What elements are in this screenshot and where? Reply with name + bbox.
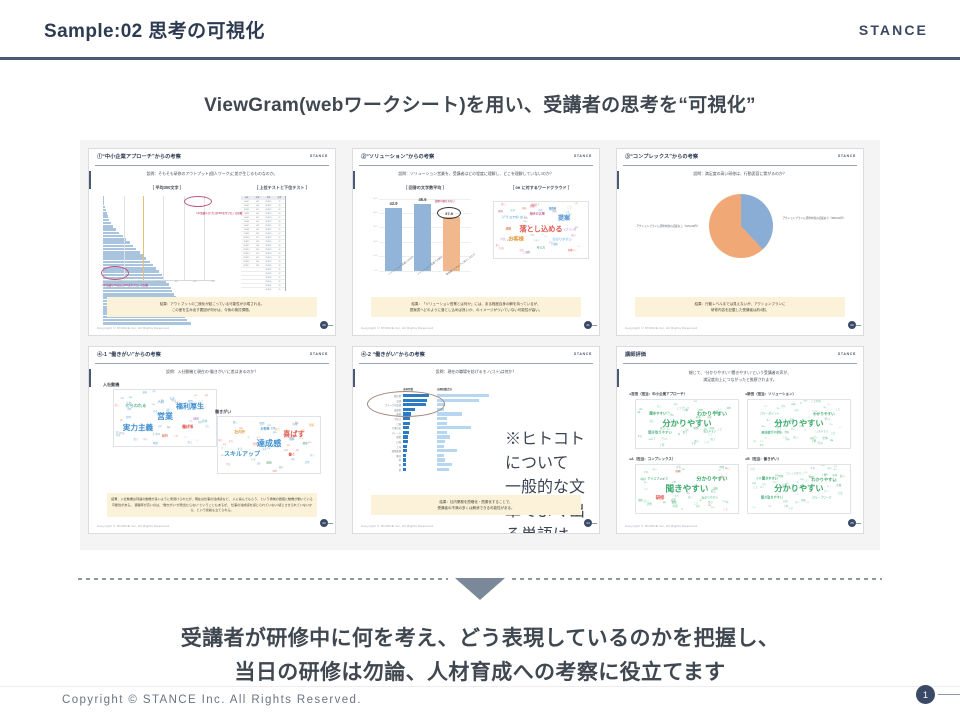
wordcloud-word: 喜ばす <box>283 431 305 438</box>
wordcloud-word: 分かりやすい <box>774 484 823 492</box>
wordcloud-word: わかりやすい <box>811 478 836 482</box>
row-label: 上司 <box>371 445 401 449</box>
slide1-highlight-lower <box>101 266 129 280</box>
wordcloud-word: 資料 <box>696 507 700 509</box>
wordcloud-word: 全体 <box>794 410 799 412</box>
slide4-conclusion-note: 結果：入社動機は待遇の動機が多いように見受けられたが、現在は仕事の達成感など、 … <box>107 493 317 517</box>
wordcloud-word: 全体 <box>202 421 207 424</box>
wordcloud-word: 話し <box>279 467 284 470</box>
slide1-annotation-upper: 「中活通りの/ブロが300文字プロ」の記載 <box>195 211 242 215</box>
slide6-header: 講師評価 STANCE <box>617 347 863 364</box>
dotted-divider-right <box>512 578 882 580</box>
slide2-title: ②“ソリューション”からの考察 <box>361 153 434 160</box>
row-label: 残業 <box>371 435 401 439</box>
wordcloud-word: こと <box>836 409 841 411</box>
slide5-title: ④-2 “働きがい”からの考察 <box>361 351 425 358</box>
wordcloud-word: する <box>152 434 157 437</box>
wordcloud-word: 働ける <box>182 426 193 430</box>
wordcloud-word: 声 <box>221 449 223 451</box>
bar-row <box>103 199 104 202</box>
wordcloud-word: 思う <box>760 488 764 490</box>
wordcloud-word: 多い <box>652 469 657 471</box>
wordcloud-word: する <box>751 507 756 510</box>
wordcloud-word: 説明 <box>727 408 731 410</box>
slide2-section-2: ［ он に対するワードクラウド ］ <box>491 185 591 191</box>
bar-row <box>103 222 111 225</box>
wordcloud-word: 良い <box>571 235 576 237</box>
bar-series-1 <box>403 426 409 429</box>
slide3-pie-chart <box>709 194 773 258</box>
axis-tick: 300 <box>156 281 160 283</box>
bar-series-2 <box>437 458 445 461</box>
slide6-page-number: 25 <box>848 519 856 527</box>
wordcloud-word: 思う <box>675 496 679 498</box>
wordcloud-word: 丁寧 <box>267 449 271 451</box>
slide6-wordcloud-3: ためすること思う良い多い話し内容全体時間理解資料説明声丁寧早い言葉ためすること思… <box>635 464 739 514</box>
wordcloud-word: 言葉 <box>152 392 155 394</box>
slide5-highlight-oval <box>367 391 445 417</box>
y-axis-tick: 10.0 <box>373 255 377 257</box>
wordcloud-word: 説明 <box>663 439 667 441</box>
slide1-page-number: 20 <box>320 321 328 329</box>
wordcloud-word: 内容 <box>816 401 821 404</box>
slide2-wordcloud: ためすること思う良い多い話し内容全体時間理解資料説明声丁寧早い言葉ためすること思… <box>493 201 589 259</box>
slide4-header: ④-1 “働きがい”からの考察 STANCE <box>89 347 335 364</box>
wordcloud-word: する <box>229 441 233 443</box>
slide4-section-1: 入社動機 <box>103 382 119 388</box>
wordcloud-word: 丁寧 <box>246 438 249 440</box>
wordcloud-word: 理解 <box>552 211 557 213</box>
wordcloud-word: 話し <box>115 405 120 407</box>
wordcloud-word: 説明 <box>205 396 208 398</box>
y-axis-tick: 0.0 <box>374 270 377 272</box>
wordcloud-word: 考え方 <box>537 247 545 250</box>
bar-series-1 <box>403 440 408 443</box>
wordcloud-word: 資料 <box>781 406 786 408</box>
row-label: 手続き <box>371 417 401 421</box>
wordcloud-word: 聞き取りやすい <box>648 431 672 434</box>
wordcloud-word: 内容 <box>127 409 131 411</box>
wordcloud-word: 多い <box>777 409 781 411</box>
wordcloud-word: 社内外 <box>235 431 246 435</box>
wordcloud-word: 言葉 <box>836 485 841 488</box>
wordcloud-word: 分かりやすい <box>696 477 727 482</box>
wordcloud-word: とらわれる <box>126 404 147 408</box>
wordcloud-word: 全体 <box>686 494 690 496</box>
wordcloud-word: 多い <box>639 409 643 411</box>
wordcloud-word: いきやすい <box>815 432 828 435</box>
slide3-title: ③“コンプレックス”からの考察 <box>625 153 698 160</box>
down-arrow-icon <box>455 578 505 600</box>
bar-series-1 <box>403 463 406 466</box>
slide6-copyright: Copyright © STANCE Inc. All Rights Reser… <box>625 524 698 528</box>
bar-series-1 <box>403 454 406 457</box>
slide-thumbnail-4[interactable]: ④-1 “働きがい”からの考察 STANCE 設問：入社動機と現在の“働きがい”… <box>88 346 336 534</box>
wordcloud-word: 声 <box>575 203 577 205</box>
wordcloud-word: 早い <box>143 439 148 441</box>
bar-row <box>103 219 109 222</box>
wordcloud-word: 理解 <box>167 428 171 430</box>
wordcloud-word: 理解 <box>498 211 503 214</box>
wordcloud-word: 言葉 <box>568 250 573 253</box>
wordcloud-word: 多い <box>766 420 770 422</box>
wordcloud-word: こと <box>811 401 816 404</box>
wordcloud-word: 良い <box>765 438 769 440</box>
wordcloud-word: 早い <box>725 468 730 470</box>
wordcloud-word: 早い <box>825 419 830 422</box>
wordcloud-word: こと <box>723 509 728 511</box>
bar-row <box>103 322 191 325</box>
wordcloud-word: 思う <box>710 439 715 441</box>
wordcloud-word: 良い <box>711 508 715 510</box>
header-divider <box>0 57 960 60</box>
wordcloud-word: する <box>521 208 525 210</box>
slide6-logo: STANCE <box>838 352 856 356</box>
wordcloud-word: 丁寧 <box>644 490 648 492</box>
wordcloud-word: スキルアップ <box>224 452 260 458</box>
wordcloud-word: 実力主義 <box>123 424 153 432</box>
wordcloud-word: 早い <box>218 440 222 442</box>
wordcloud-word: 研修 <box>656 496 665 500</box>
wordcloud-word: 説明 <box>806 503 809 505</box>
slide5-question: 設問：現在の職場を妨げるモノ(コト)は何か？ <box>353 369 599 375</box>
wordcloud-word: ため <box>251 459 256 462</box>
table-cell: 社員42 <box>263 288 274 292</box>
row-label: 口頭 <box>371 422 401 426</box>
wordcloud-word: 時間 <box>778 476 783 479</box>
wordcloud-word: する <box>829 425 833 427</box>
wordcloud-word: 丁寧 <box>659 445 664 448</box>
wordcloud-word: 提案書 <box>549 208 556 210</box>
wordcloud-word: わかりやすい <box>697 413 727 418</box>
row-label: 教育 <box>371 454 401 458</box>
slide4-section-2: 働きがい <box>215 409 231 415</box>
slide4-question: 設問：入社動機と現在の“働きがい”に差はあるのか？ <box>89 369 335 375</box>
wordcloud-word: 理解 <box>641 479 646 482</box>
wordcloud-word: 丁寧 <box>174 436 178 438</box>
wordcloud-word: 多い <box>310 455 315 457</box>
wordcloud-word: 資料 <box>824 474 828 476</box>
slide3-logo: STANCE <box>838 154 856 158</box>
dotted-divider-left <box>78 578 448 580</box>
wordcloud-word: 相手の立場 <box>530 212 545 215</box>
bar-row <box>103 241 130 244</box>
slide-thumbnail-1[interactable]: ①“中小企業アプローチ”からの考察 STANCE 設問：そもそも研修のアウトプッ… <box>88 148 336 336</box>
bar-series-2 <box>437 454 444 457</box>
wordcloud-word: 話し <box>718 471 721 473</box>
bar-row <box>103 248 136 251</box>
wordcloud-word: 話し <box>562 202 566 204</box>
wordcloud-word: 言葉 <box>838 493 843 495</box>
wordcloud-word: 良い <box>116 432 121 434</box>
wordcloud-word: 説明 <box>126 417 131 419</box>
wordcloud-word: 理解 <box>129 398 132 400</box>
wordcloud-word: ソリューション <box>502 216 527 220</box>
wordcloud-word: する <box>533 241 537 243</box>
conclusion-line-1: 受講者が研修中に何を考え、どう表現しているのかを把握し、 <box>0 622 960 656</box>
bar-row <box>103 290 172 293</box>
page-header: Sample:02 思考の可視化 STANCE <box>0 0 960 58</box>
wordcloud-word: ため <box>818 443 823 445</box>
wordcloud-word: 説明 <box>764 407 768 409</box>
bar-series-1 <box>403 431 409 434</box>
wordcloud-word: 成長 <box>193 418 199 421</box>
bar-value-label: 43.9 <box>385 201 402 206</box>
slide2-conclusion-note: 結果：「ソリューション営業とは何か」には、ある程度自身の解を持っているが、 提案… <box>371 297 581 317</box>
wordcloud-word: 理解 <box>309 425 314 428</box>
slide3-pie-label-1: アクションプランに研修内容の記載あり（38%/21件） <box>777 217 851 221</box>
wordcloud-word: 内容 <box>750 469 755 472</box>
slide5-page-number: 24 <box>584 519 592 527</box>
bar-row <box>103 202 104 205</box>
slide1-highlight-upper <box>184 196 212 207</box>
wordcloud-word: 早い <box>768 507 771 509</box>
wordcloud-word: 内容 <box>120 399 124 401</box>
slide1-question: 設問：そもそも研修のアウトプット(個人ワーク)に差が生じるものなのか。 <box>89 171 335 177</box>
wordcloud-word: 全体 <box>834 467 837 469</box>
slide1-score-table: 上位文字下位文字社員1480社員2070社員2468社員2168社員3456社員… <box>241 196 325 291</box>
slide4-copyright: Copyright © STANCE Inc. All Rights Reser… <box>97 524 170 528</box>
wordcloud-word: 多い <box>827 487 831 489</box>
wordcloud-word: 全体 <box>530 235 534 237</box>
wordcloud-word: 達成感 <box>257 440 282 448</box>
slide-thumbnail-2[interactable]: ②“ソリューション”からの考察 STANCE 設問：ソリューション営業を、受講者… <box>352 148 600 336</box>
bar-series-1 <box>403 458 406 461</box>
bar-row <box>103 196 104 199</box>
wordcloud-word: 早い <box>700 501 704 503</box>
wordcloud-word: 話し <box>711 491 716 494</box>
wordcloud-word: 丁寧 <box>189 422 193 424</box>
wordcloud-word: 話し <box>657 406 662 408</box>
slide2-header: ②“ソリューション”からの考察 STANCE <box>353 149 599 166</box>
wordcloud-word: ブレイクダウン <box>786 474 804 477</box>
wordcloud-word: ヒアリング <box>676 409 689 412</box>
wordcloud-word: お客様 <box>260 427 269 430</box>
page-number-line <box>938 694 960 696</box>
wordcloud-word: 時間 <box>719 467 724 469</box>
wordcloud-word: 時間 <box>673 506 678 509</box>
wordcloud-word: 時間 <box>273 471 277 473</box>
wordcloud-word: 声 <box>120 420 123 423</box>
row-label: クレーム <box>371 431 401 435</box>
wordcloud-word: 給料 <box>162 435 168 438</box>
wordcloud-word: 全体 <box>510 210 515 213</box>
axis-tick: 600 <box>211 281 215 283</box>
bar-row <box>103 215 108 218</box>
wordcloud-word: 理解 <box>531 205 536 208</box>
slide5-logo: STANCE <box>574 352 592 356</box>
y-axis-tick: 20.0 <box>373 241 377 243</box>
wordcloud-word: 説明 <box>305 462 310 464</box>
slide-thumbnail-3[interactable]: ③“コンプレックス”からの考察 STANCE 設問：満足度の高い研修は、行動変容… <box>616 148 864 336</box>
bar-series-2 <box>437 445 444 448</box>
bar-fill <box>414 204 431 271</box>
wordcloud-word: 理解 <box>637 413 640 415</box>
wordcloud-word: こと <box>577 247 581 249</box>
slide1-copyright: Copyright © STANCE Inc. All Rights Reser… <box>97 326 170 330</box>
wordcloud-word: 声 <box>804 430 806 432</box>
wordcloud-word: 聞き取りやすい <box>761 432 782 435</box>
slide2-copyright: Copyright © STANCE Inc. All Rights Reser… <box>361 326 434 330</box>
bar-series-2 <box>437 463 452 466</box>
wordcloud-word: 多い <box>295 423 299 425</box>
page-number-badge: 1 <box>916 685 935 704</box>
slide1-header: ①“中小企業アプローチ”からの考察 STANCE <box>89 149 335 166</box>
table-cell: 26 <box>274 288 285 292</box>
wordcloud-word: 聞きやすい <box>649 412 666 415</box>
wordcloud-word: 声 <box>800 404 802 406</box>
wordcloud-word: 見えやすい <box>703 432 716 435</box>
bar-row <box>103 257 146 260</box>
axis-tick: 400 <box>174 281 178 283</box>
bar-row <box>103 212 107 215</box>
wordcloud-word: わかりやすい <box>813 413 835 417</box>
bar-series-1 <box>403 449 407 452</box>
wordcloud-word: 思う <box>303 443 308 445</box>
wordcloud-word: 話し <box>762 484 767 486</box>
wordcloud-word: 良い <box>791 429 795 431</box>
wordcloud-word: ヒアリング <box>563 230 576 233</box>
wordcloud-word: こと <box>694 503 699 505</box>
bar-row <box>103 245 133 248</box>
wordcloud-word: 理解 <box>830 441 833 443</box>
slide6-title: 講師評価 <box>625 351 646 358</box>
bar-series-1 <box>403 468 406 471</box>
wordcloud-word: 聞きやすい <box>762 477 778 480</box>
bar-row <box>103 251 140 254</box>
row-label: 他 <box>371 458 401 462</box>
brand-logo: STANCE <box>859 22 928 38</box>
wordcloud-word: 早い <box>171 400 176 402</box>
wordcloud-word: 聞き取りやすい <box>761 496 783 499</box>
row-label: 行事対応 <box>371 426 401 430</box>
wordcloud-word: 早い <box>544 237 548 239</box>
slide-thumbnail-6[interactable]: 講師評価 STANCE 総じて、“分かりやすい”“聞きやすい”という受講者の声が… <box>616 346 864 534</box>
wordcloud-word: 資料 <box>674 405 677 407</box>
slide2-highlight-oval: 37.8 <box>437 207 461 219</box>
wordcloud-word: ため <box>704 442 709 445</box>
page-title: Sample:02 思考の可視化 <box>44 16 265 43</box>
wordcloud-word: こと <box>838 427 842 429</box>
slide4-title: ④-1 “働きがい”からの考察 <box>97 351 161 358</box>
y-axis-tick: 30.0 <box>373 226 377 228</box>
slide3-question: 設問：満足度の高い研修は、行動変容に繋がるのか？ <box>617 171 863 177</box>
slide1-header-rule <box>95 165 329 166</box>
y-axis-tick: 40.0 <box>373 212 377 214</box>
row-label: 他 <box>371 463 401 467</box>
wordcloud-word: ため <box>722 501 727 503</box>
wordcloud-word: 思う <box>683 432 688 434</box>
wordcloud-word: 丁寧 <box>811 441 816 444</box>
bar-row <box>103 225 113 228</box>
slide3-page-number: 22 <box>848 321 856 329</box>
bar-series-2 <box>437 426 471 429</box>
slide2-logo: STANCE <box>574 154 592 158</box>
bar-value-label: 46.6 <box>414 197 431 202</box>
wordcloud-word: 多い <box>840 476 845 479</box>
wordcloud-word: 早い <box>694 441 699 443</box>
wordcloud-word: こと <box>567 207 572 210</box>
bar-series-2 <box>437 417 447 420</box>
footer-divider <box>0 686 960 687</box>
conclusion-block: 受講者が研修中に何を考え、どう表現しているのかを把握し、 当日の研修は勿論、人材… <box>0 622 960 690</box>
slide3-header: ③“コンプレックス”からの考察 STANCE <box>617 149 863 166</box>
wordcloud-word: アイスブレイク <box>648 478 669 481</box>
wordcloud-word: 良い <box>308 443 312 445</box>
wordcloud-word: 早い <box>753 442 757 444</box>
wordcloud-word: 話し <box>205 426 210 428</box>
bar-series-2 <box>437 449 457 452</box>
wordcloud-word: 多い <box>824 491 829 494</box>
slide6-question: 総じて、“分かりやすい”“聞きやすい”という受講者の声が、 満足度向上につながっ… <box>617 369 863 383</box>
wordcloud-word: こと <box>717 429 722 432</box>
wordcloud-word: する <box>691 443 696 445</box>
wordcloud-word: 福利厚生 <box>176 404 204 411</box>
bar-row <box>103 238 126 241</box>
wordcloud-word: 資料 <box>784 432 788 434</box>
slide2-page-number: 21 <box>584 321 592 329</box>
row-label: 調整業務 <box>371 449 401 453</box>
wordcloud-word: 全体 <box>693 402 696 404</box>
slide-thumbnail-5[interactable]: ④-2 “働きがい”からの考察 STANCE 設問：現在の職場を妨げるモノ(コト… <box>352 346 600 534</box>
bar-series-2 <box>437 468 449 471</box>
slide6-quad-label-2: ●新田（担当：ソリューション） <box>745 392 796 397</box>
slide5-header-rule <box>359 363 593 364</box>
wordcloud-word: 内容 <box>821 465 825 467</box>
table-divider <box>285 196 286 291</box>
slide2-header-rule <box>359 165 593 166</box>
wordcloud-word: 資料 <box>287 446 291 448</box>
slide6-wordcloud-4: ためすること思う良い多い話し内容全体時間理解資料説明声丁寧早い言葉ためすること思… <box>747 464 851 514</box>
wordcloud-word: こと <box>753 487 758 489</box>
wordcloud-word: 全体 <box>822 438 827 441</box>
wordcloud-word: する <box>638 436 643 438</box>
bar: 46.6 <box>414 199 431 271</box>
wordcloud-word: こと <box>670 495 674 497</box>
bar-row <box>103 209 106 212</box>
wordcloud-word: お客様 <box>508 238 524 243</box>
wordcloud-word: 言葉 <box>271 428 276 430</box>
table-row: 社員4226 <box>241 288 285 292</box>
slide6-quad-label-1: ●吉田（担当：中小企業アプローチ） <box>629 392 687 397</box>
wordcloud-word: 内容 <box>499 248 504 250</box>
wordcloud-word: 全体 <box>681 470 684 472</box>
score-table: 上位文字下位文字社員1480社員2070社員2468社員2168社員3456社員… <box>241 196 285 291</box>
row-label: 他 <box>371 468 401 472</box>
wordcloud-word: 理解 <box>675 471 680 473</box>
wordcloud-word: こと <box>183 438 187 440</box>
bar-series-2 <box>437 440 445 443</box>
slide4-logo: STANCE <box>310 352 328 356</box>
slide4-page-number: 23 <box>320 519 328 527</box>
wordcloud-word: 課題 <box>506 229 511 232</box>
wordcloud-word: こと <box>651 438 655 440</box>
bar-series-2 <box>437 431 447 434</box>
wordcloud-word: 言葉 <box>831 433 835 435</box>
slide1-logo: STANCE <box>310 154 328 158</box>
slide6-quad-label-4: ●B（担当：働きがい） <box>745 457 781 462</box>
bar-series-2 <box>437 412 462 415</box>
wordcloud-word: 声 <box>681 510 683 512</box>
slide2-annotation: 説明や語ちきない <box>435 199 455 203</box>
slide5-copyright: Copyright © STANCE Inc. All Rights Reser… <box>361 524 434 528</box>
wordcloud-word: 営業 <box>157 413 173 421</box>
bar-series-1 <box>403 445 407 448</box>
slide4-wordcloud-worthwhile: ためすること思う良い多い話し内容全体時間理解資料説明声丁寧早い言葉ためすること思… <box>217 416 321 474</box>
wordcloud-word: 落とし込める <box>519 226 562 233</box>
wordcloud-word: する <box>237 449 242 452</box>
wordcloud-word: 早い <box>573 251 577 253</box>
